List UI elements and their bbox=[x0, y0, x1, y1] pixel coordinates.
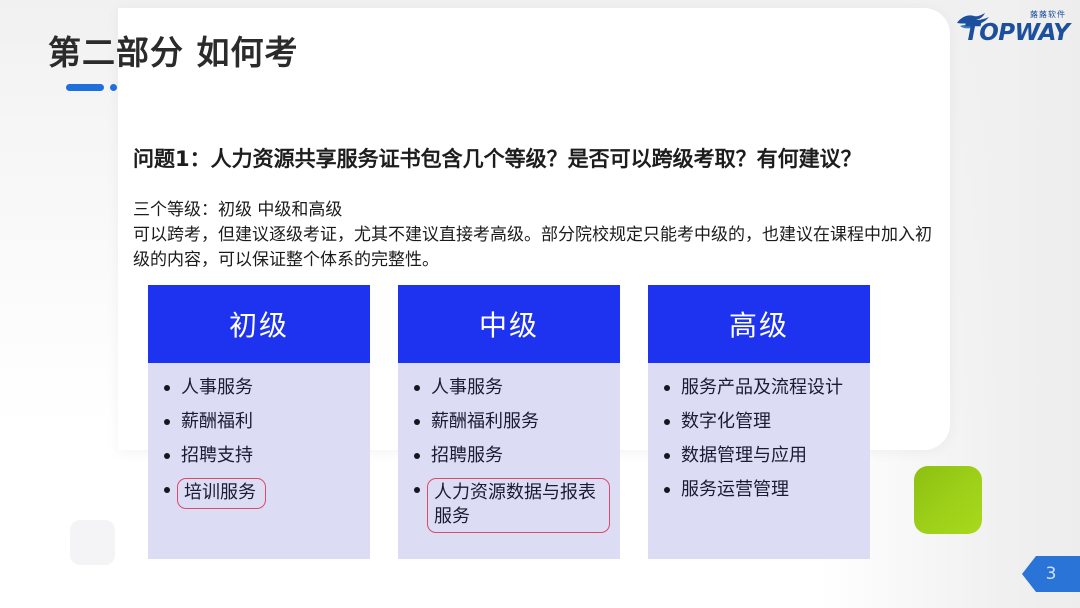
list-item-label: 人力资源数据与报表服务 bbox=[427, 478, 610, 533]
list-item-label: 人事服务 bbox=[431, 376, 503, 400]
level-card-advanced: 高级 服务产品及流程设计 数字化管理 数据管理与应用 服务运营管理 bbox=[648, 285, 870, 559]
brand-logo-wordmark: TOPWAY bbox=[964, 20, 1069, 46]
level-cards: 初级 人事服务 薪酬福利 招聘支持 培训服务 中级 人事服务 薪酬福利服务 招聘… bbox=[148, 285, 870, 559]
slide: 第二部分 如何考 蕗蕗软件 TOPWAY 问题1：人力资源共享服务证书包含几个等… bbox=[0, 0, 1080, 608]
list-item-label: 招聘支持 bbox=[181, 444, 253, 468]
brand-logo-cn: 蕗蕗软件 bbox=[1030, 9, 1066, 20]
level-card-title: 高级 bbox=[648, 285, 870, 363]
list-item: 数字化管理 bbox=[660, 410, 860, 434]
grey-square-decoration bbox=[70, 520, 115, 565]
accent-bar-icon bbox=[66, 84, 104, 91]
level-item-list: 人事服务 薪酬福利服务 招聘服务 人力资源数据与报表服务 bbox=[410, 376, 610, 533]
list-item: 数据管理与应用 bbox=[660, 444, 860, 468]
list-item-label: 培训服务 bbox=[177, 478, 266, 509]
list-item: 招聘服务 bbox=[410, 444, 610, 468]
list-item-label: 数据管理与应用 bbox=[681, 444, 807, 468]
list-item: 薪酬福利服务 bbox=[410, 410, 610, 434]
level-card-body: 人事服务 薪酬福利 招聘支持 培训服务 bbox=[148, 363, 370, 559]
level-card-primary: 初级 人事服务 薪酬福利 招聘支持 培训服务 bbox=[148, 285, 370, 559]
list-item-label: 数字化管理 bbox=[681, 410, 771, 434]
answer-paragraph-2: 可以跨考，但建议逐级考证，尤其不建议直接考高级。部分院校规定只能考中级的，也建议… bbox=[133, 223, 933, 273]
level-card-body: 人事服务 薪酬福利服务 招聘服务 人力资源数据与报表服务 bbox=[398, 363, 620, 559]
list-item-highlighted: 人力资源数据与报表服务 bbox=[410, 478, 610, 533]
list-item-label: 服务产品及流程设计 bbox=[681, 376, 843, 400]
list-item: 人事服务 bbox=[410, 376, 610, 400]
list-item-label: 薪酬福利服务 bbox=[431, 410, 539, 434]
list-item-label: 服务运营管理 bbox=[681, 478, 789, 502]
level-card-intermediate: 中级 人事服务 薪酬福利服务 招聘服务 人力资源数据与报表服务 bbox=[398, 285, 620, 559]
list-item: 薪酬福利 bbox=[160, 410, 360, 434]
answer-paragraph-1: 三个等级：初级 中级和高级 bbox=[133, 198, 933, 223]
list-item-highlighted: 培训服务 bbox=[160, 478, 360, 509]
page-title: 第二部分 如何考 bbox=[48, 26, 299, 74]
list-item-label: 薪酬福利 bbox=[181, 410, 253, 434]
question-heading: 问题1：人力资源共享服务证书包含几个等级？是否可以跨级考取？有何建议？ bbox=[133, 143, 862, 173]
list-item: 服务运营管理 bbox=[660, 478, 860, 502]
list-item-label: 人事服务 bbox=[181, 376, 253, 400]
level-item-list: 人事服务 薪酬福利 招聘支持 培训服务 bbox=[160, 376, 360, 509]
brand-logo: 蕗蕗软件 TOPWAY bbox=[956, 6, 1068, 50]
title-accent bbox=[66, 84, 117, 91]
green-square-decoration bbox=[914, 466, 982, 534]
level-card-title: 初级 bbox=[148, 285, 370, 363]
list-item: 服务产品及流程设计 bbox=[660, 376, 860, 400]
level-card-title: 中级 bbox=[398, 285, 620, 363]
list-item: 招聘支持 bbox=[160, 444, 360, 468]
level-card-body: 服务产品及流程设计 数字化管理 数据管理与应用 服务运营管理 bbox=[648, 363, 870, 559]
list-item: 人事服务 bbox=[160, 376, 360, 400]
level-item-list: 服务产品及流程设计 数字化管理 数据管理与应用 服务运营管理 bbox=[660, 376, 860, 502]
answer-body: 三个等级：初级 中级和高级 可以跨考，但建议逐级考证，尤其不建议直接考高级。部分… bbox=[133, 198, 933, 273]
accent-dot-icon bbox=[110, 84, 117, 91]
list-item-label: 招聘服务 bbox=[431, 444, 503, 468]
